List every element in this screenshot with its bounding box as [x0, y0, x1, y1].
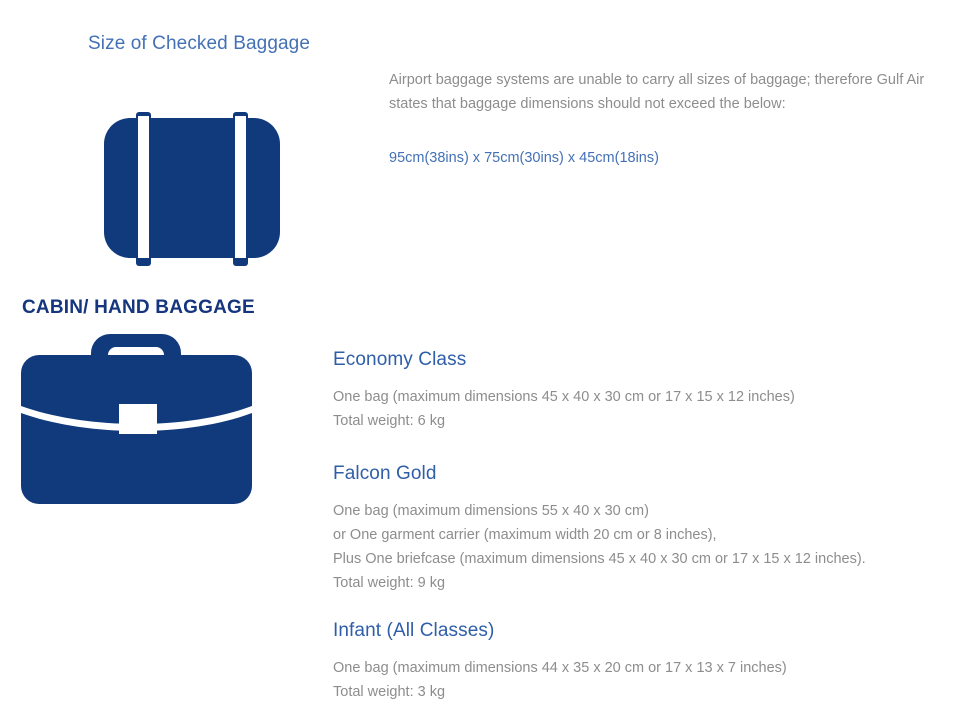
class-title-economy: Economy Class — [333, 349, 466, 371]
class-details-infant: One bag (maximum dimensions 44 x 35 x 20… — [333, 656, 787, 704]
class-details-economy: One bag (maximum dimensions 45 x 40 x 30… — [333, 385, 795, 433]
briefcase-icon — [18, 330, 258, 510]
checked-baggage-paragraph: Airport baggage systems are unable to ca… — [389, 68, 949, 116]
class-details-falcon-gold: One bag (maximum dimensions 55 x 40 x 30… — [333, 499, 866, 595]
detail-line: One bag (maximum dimensions 45 x 40 x 30… — [333, 385, 795, 409]
detail-line: Total weight: 9 kg — [333, 571, 866, 595]
detail-line: Plus One briefcase (maximum dimensions 4… — [333, 547, 866, 571]
class-title-falcon-gold: Falcon Gold — [333, 463, 437, 485]
class-title-infant: Infant (All Classes) — [333, 620, 494, 642]
checked-baggage-title: Size of Checked Baggage — [88, 33, 310, 55]
detail-line: Total weight: 6 kg — [333, 409, 795, 433]
detail-line: One bag (maximum dimensions 55 x 40 x 30… — [333, 499, 866, 523]
cabin-baggage-title: CABIN/ HAND BAGGAGE — [22, 297, 255, 319]
detail-line: Total weight: 3 kg — [333, 680, 787, 704]
detail-line: One bag (maximum dimensions 44 x 35 x 20… — [333, 656, 787, 680]
suitcase-icon — [86, 76, 306, 276]
checked-baggage-dimensions: 95cm(38ins) x 75cm(30ins) x 45cm(18ins) — [389, 146, 659, 170]
detail-line: or One garment carrier (maximum width 20… — [333, 523, 866, 547]
